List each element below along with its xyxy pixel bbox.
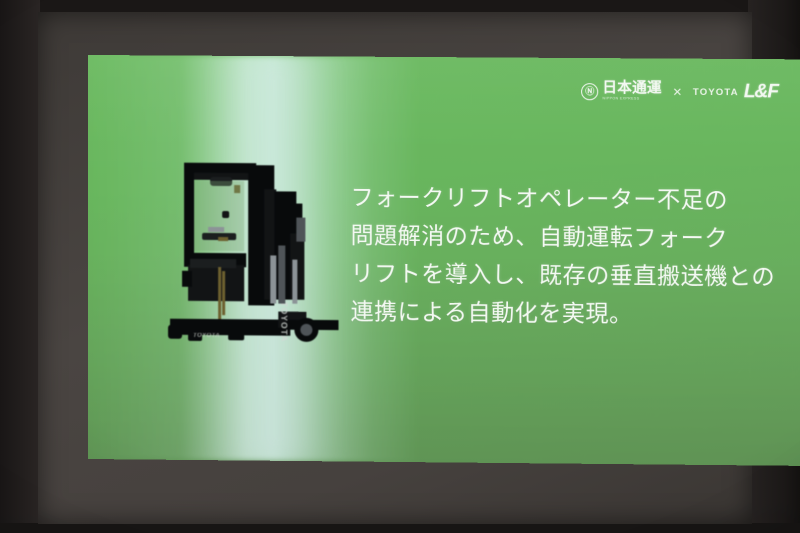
- logo-separator: ×: [673, 83, 682, 100]
- toyota-brand-text: TOYOTA: [693, 86, 739, 97]
- projection-screen: TOYOTA TOYOTA Ⓝ 日本通運 NIPPON EXPRESS × TO…: [38, 12, 752, 524]
- nippon-express-japanese-name: 日本通運: [602, 81, 661, 96]
- room-wall-left: [0, 0, 40, 533]
- slide-body-line-2: 問題解消のため、自動運転フォーク: [351, 217, 775, 258]
- slide-body-line-4: 連携による自動化を実現。: [351, 293, 775, 335]
- toyota-reach-forklift-photo: TOYOTA TOYOTA: [166, 159, 347, 391]
- nippon-express-english-name: NIPPON EXPRESS: [602, 98, 661, 102]
- room-wall-bottom: [0, 523, 800, 533]
- forklift-body-brand-text: TOYOTA: [193, 333, 220, 339]
- projected-slide-photo: TOYOTA TOYOTA Ⓝ 日本通運 NIPPON EXPRESS × TO…: [0, 0, 800, 533]
- slide-logo-row: Ⓝ 日本通運 NIPPON EXPRESS × TOYOTA L&F: [581, 80, 778, 103]
- toyota-lf-logo: TOYOTA L&F: [693, 81, 778, 104]
- lf-product-text: L&F: [744, 81, 778, 103]
- nippon-express-logo: Ⓝ 日本通運 NIPPON EXPRESS: [581, 81, 662, 101]
- slide-body-text: フォークリフトオペレーター不足の 問題解消のため、自動運転フォーク リフトを導入…: [351, 179, 775, 335]
- circled-n-icon: Ⓝ: [581, 83, 598, 100]
- slide-body-line-1: フォークリフトオペレーター不足の: [351, 179, 775, 220]
- forklift-mast-brand-text: TOYOTA: [279, 302, 289, 343]
- presentation-slide: TOYOTA TOYOTA Ⓝ 日本通運 NIPPON EXPRESS × TO…: [88, 55, 800, 466]
- slide-body-line-3: リフトを導入し、既存の垂直搬送機との: [351, 255, 775, 297]
